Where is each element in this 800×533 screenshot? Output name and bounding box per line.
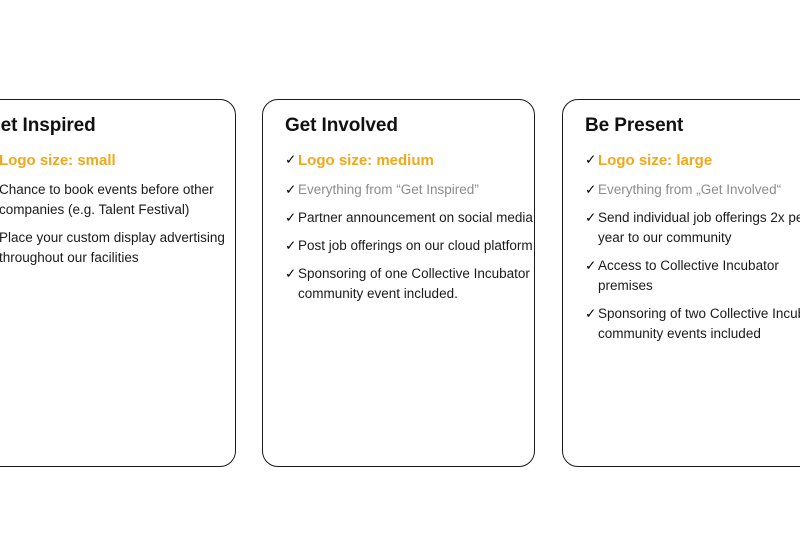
card-content: Be Present ✓ Logo size: large ✓ Everythi… [585, 114, 800, 352]
tier-card-get-involved[interactable]: Get Involved ✓ Logo size: medium ✓ Every… [262, 99, 535, 467]
feature-label: Partner announcement on social media [298, 208, 535, 228]
slide-canvas: Get Inspired ✓ Logo size: small ✓ Chance… [0, 0, 800, 533]
check-icon: ✓ [585, 208, 596, 228]
feature-label: Everything from “Get Inspired” [298, 180, 535, 200]
feature-item: ✓ Place your custom display advertising … [0, 228, 236, 268]
tier-card-be-present[interactable]: Be Present ✓ Logo size: large ✓ Everythi… [562, 99, 800, 467]
feature-label: Send individual job offerings 2x per yea… [598, 208, 800, 248]
feature-label: Chance to book events before other compa… [0, 180, 236, 220]
feature-item: ✓ Logo size: medium [285, 150, 535, 171]
feature-label: Sponsoring of two Collective Incubator c… [598, 304, 800, 344]
card-title: Get Involved [285, 114, 535, 138]
tier-card-get-inspired[interactable]: Get Inspired ✓ Logo size: small ✓ Chance… [0, 99, 236, 467]
check-icon: ✓ [285, 236, 296, 256]
check-icon: ✓ [585, 150, 596, 170]
card-content: Get Inspired ✓ Logo size: small ✓ Chance… [0, 114, 236, 276]
feature-item: ✓ Everything from „Get Involved“ [585, 180, 800, 200]
feature-list: ✓ Logo size: medium ✓ Everything from “G… [285, 150, 535, 304]
feature-item: ✓ Partner announcement on social media [285, 208, 535, 228]
card-title: Be Present [585, 114, 800, 138]
feature-item: ✓ Post job offerings on our cloud platfo… [285, 236, 535, 256]
check-icon: ✓ [285, 208, 296, 228]
feature-item: ✓ Access to Collective Incubator premise… [585, 256, 800, 296]
card-content: Get Involved ✓ Logo size: medium ✓ Every… [285, 114, 535, 312]
feature-item: ✓ Logo size: large [585, 150, 800, 171]
feature-label: Sponsoring of one Collective Incubator c… [298, 264, 535, 304]
card-title: Get Inspired [0, 114, 236, 138]
feature-label: Logo size: small [0, 150, 236, 171]
feature-label: Logo size: medium [298, 150, 535, 171]
feature-item: ✓ Logo size: small [0, 150, 236, 171]
feature-label: Access to Collective Incubator premises [598, 256, 800, 296]
feature-item: ✓ Everything from “Get Inspired” [285, 180, 535, 200]
feature-item: ✓ Chance to book events before other com… [0, 180, 236, 220]
check-icon: ✓ [285, 180, 296, 200]
feature-label: Post job offerings on our cloud platform [298, 236, 535, 256]
feature-item: ✓ Sponsoring of one Collective Incubator… [285, 264, 535, 304]
feature-list: ✓ Logo size: large ✓ Everything from „Ge… [585, 150, 800, 344]
feature-item: ✓ Send individual job offerings 2x per y… [585, 208, 800, 248]
feature-item: ✓ Sponsoring of two Collective Incubator… [585, 304, 800, 344]
check-icon: ✓ [585, 256, 596, 276]
feature-list: ✓ Logo size: small ✓ Chance to book even… [0, 150, 236, 268]
check-icon: ✓ [285, 150, 296, 170]
check-icon: ✓ [585, 180, 596, 200]
check-icon: ✓ [285, 264, 296, 284]
feature-label: Place your custom display advertising th… [0, 228, 236, 268]
check-icon: ✓ [585, 304, 596, 324]
feature-label: Logo size: large [598, 150, 800, 171]
feature-label: Everything from „Get Involved“ [598, 180, 800, 200]
